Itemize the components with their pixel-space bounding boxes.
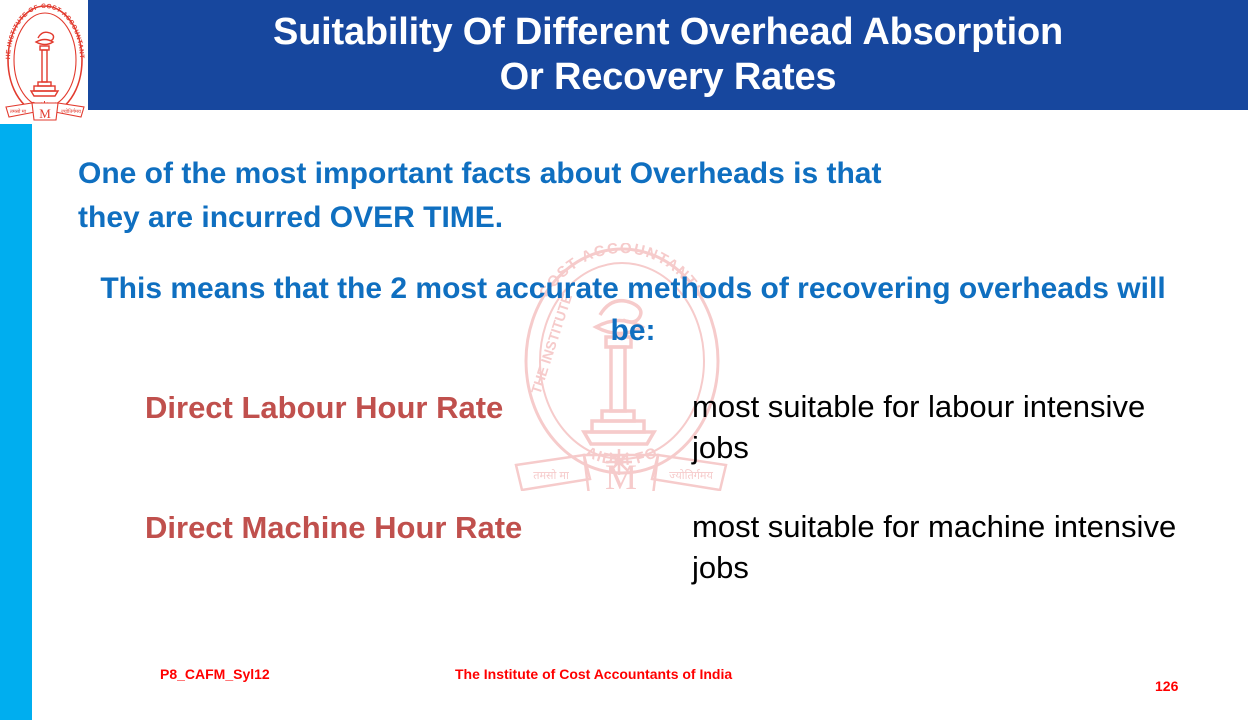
slide-body: One of the most important facts about Ov… xyxy=(0,110,1248,650)
rate-description-labour: most suitable for labour intensive jobs xyxy=(692,386,1192,468)
header-band: Suitability Of Different Overhead Absorp… xyxy=(88,0,1248,110)
paragraph-1-line-1: One of the most important facts about Ov… xyxy=(78,152,1188,196)
rate-term-machine: Direct Machine Hour Rate xyxy=(145,508,522,548)
svg-text:ज्योतिर्गमय: ज्योतिर्गमय xyxy=(61,108,81,115)
rate-description-machine: most suitable for machine intensive jobs xyxy=(692,506,1192,588)
rate-term-labour: Direct Labour Hour Rate xyxy=(145,388,503,428)
paragraph-1-line-2: they are incurred OVER TIME. xyxy=(78,196,1188,240)
svg-text:तमसो मा: तमसो मा xyxy=(10,108,27,115)
body-paragraph-2: This means that the 2 most accurate meth… xyxy=(78,268,1188,352)
page-title: Suitability Of Different Overhead Absorp… xyxy=(243,10,1093,100)
footer-institute-name: The Institute of Cost Accountants of Ind… xyxy=(455,666,732,682)
svg-text:M: M xyxy=(39,106,51,121)
footer-subject-code: P8_CAFM_Syl12 xyxy=(160,666,270,682)
institute-logo: THE INSTITUTE OF COST ACCOUNTANTS OF IND… xyxy=(2,2,88,124)
slide-canvas: Suitability Of Different Overhead Absorp… xyxy=(0,0,1248,720)
body-paragraph-1: One of the most important facts about Ov… xyxy=(78,152,1188,240)
footer-page-number: 126 xyxy=(1155,678,1178,694)
